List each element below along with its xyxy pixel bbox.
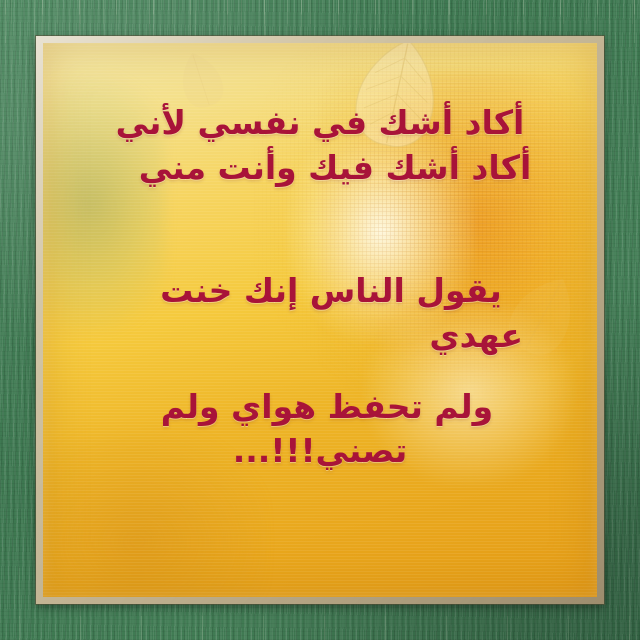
picture-frame: أكاد أشك في نفسي لأني أكاد أشك فيك وأنت …: [36, 36, 604, 604]
poem-text: أكاد أشك في نفسي لأني أكاد أشك فيك وأنت …: [43, 43, 597, 597]
poem-line: تصني!!!...: [83, 429, 557, 474]
poem-line: عهدي: [83, 314, 557, 359]
poem-line: ولم تحفظ هواي ولم: [83, 385, 557, 430]
stanza-1: أكاد أشك في نفسي لأني أكاد أشك فيك وأنت …: [83, 101, 557, 191]
poem-line: يقول الناس إنك خنت: [83, 269, 557, 314]
stanza-2: يقول الناس إنك خنت عهدي: [83, 269, 557, 359]
poem-panel: أكاد أشك في نفسي لأني أكاد أشك فيك وأنت …: [43, 43, 597, 597]
poem-line: أكاد أشك في نفسي لأني: [83, 101, 557, 146]
stanza-3: ولم تحفظ هواي ولم تصني!!!...: [83, 385, 557, 475]
poetry-card: أكاد أشك في نفسي لأني أكاد أشك فيك وأنت …: [0, 0, 640, 640]
poem-line: أكاد أشك فيك وأنت مني: [83, 146, 557, 191]
stanza-spacer: [83, 191, 557, 269]
